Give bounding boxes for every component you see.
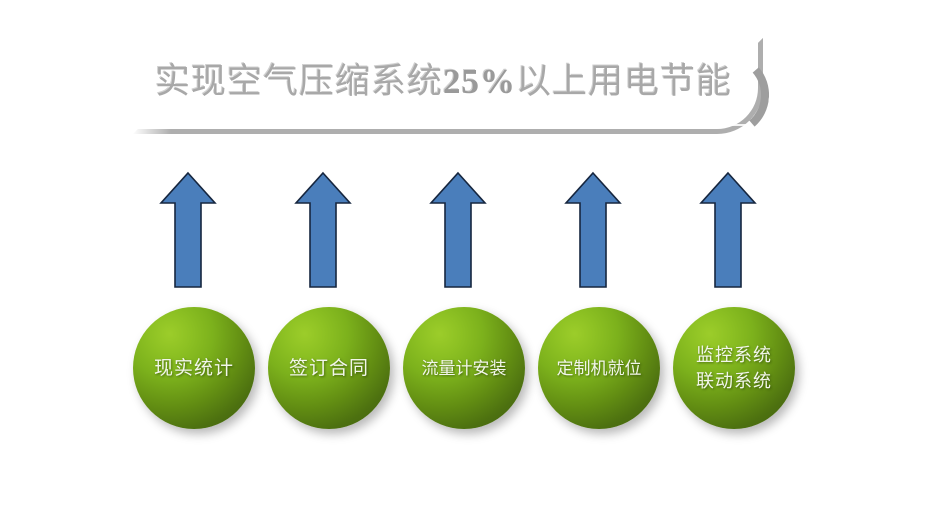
up-arrow-icon-2 (293, 170, 353, 290)
process-node-4[interactable]: 定制机就位 (538, 307, 660, 429)
page-title-prefix: 实现空气压缩系统 (155, 62, 443, 101)
page-title-percent: 25% (443, 62, 516, 101)
up-arrow-icon-3 (428, 170, 488, 290)
up-arrow-icon-4 (563, 170, 623, 290)
process-node-label-2: 签订合同 (285, 356, 373, 381)
process-node-label-4: 定制机就位 (553, 356, 646, 381)
process-node-label-3: 流量计安装 (418, 356, 511, 381)
process-node-3[interactable]: 流量计安装 (403, 307, 525, 429)
process-node-2[interactable]: 签订合同 (268, 307, 390, 429)
up-arrow-icon-5 (698, 170, 758, 290)
process-node-label-5: 监控系统 联动系统 (692, 342, 776, 394)
process-node-label-1: 现实统计 (150, 356, 238, 381)
title-banner: 实现空气压缩系统25%以上用电节能 (125, 34, 780, 134)
page-title-suffix: 以上用电节能 (516, 62, 732, 101)
up-arrow-icon-1 (158, 170, 218, 290)
slide-canvas: 实现空气压缩系统25%以上用电节能 现实统计 签订合同 流量计安装 定制机 (0, 0, 945, 529)
page-title: 实现空气压缩系统25%以上用电节能 (155, 52, 755, 112)
process-node-1[interactable]: 现实统计 (133, 307, 255, 429)
process-node-5[interactable]: 监控系统 联动系统 (673, 307, 795, 429)
banner-rule-highlight (137, 124, 751, 126)
